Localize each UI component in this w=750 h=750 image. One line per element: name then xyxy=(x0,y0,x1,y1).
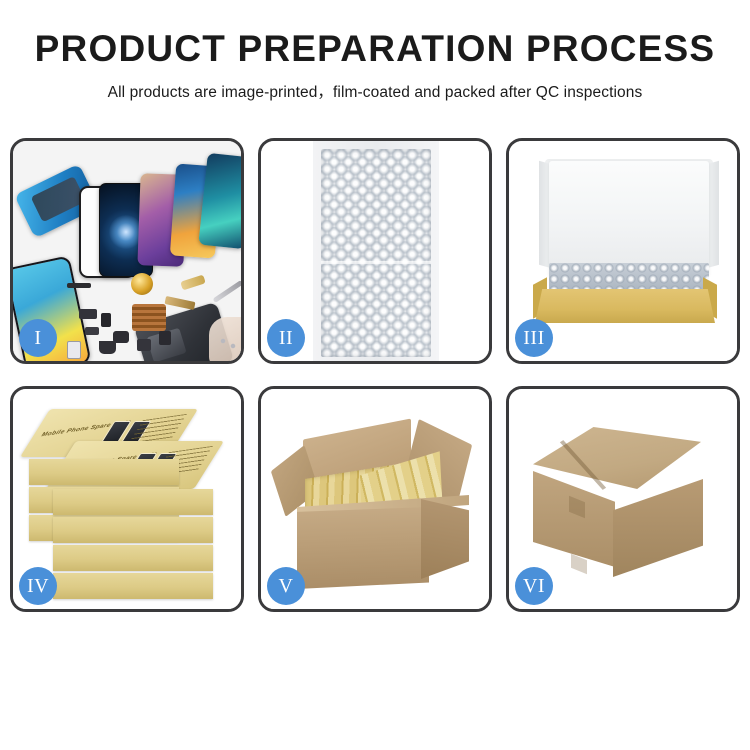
box-lid-panel xyxy=(549,161,709,276)
step-badge-1: I xyxy=(19,319,57,357)
sim-tray-part xyxy=(67,341,81,359)
step-badge-2: II xyxy=(267,319,305,357)
box-front-panel xyxy=(535,289,715,323)
carton-front-panel xyxy=(297,507,429,589)
step-panel-5: V xyxy=(258,386,492,612)
antenna-part xyxy=(159,331,171,345)
retail-box-stack-1 xyxy=(29,459,179,485)
logic-board-chip xyxy=(132,304,166,331)
step-badge-5: V xyxy=(267,567,305,605)
step-badge-3: III xyxy=(515,319,553,357)
flex-cable-2 xyxy=(180,275,206,291)
retail-box-stack-6 xyxy=(53,545,213,571)
retail-box-stack-7 xyxy=(53,573,213,599)
step-panel-6: VI xyxy=(506,386,740,612)
step-badge-4: IV xyxy=(19,567,57,605)
retail-box-stack-4 xyxy=(53,489,213,515)
flex-cable-3 xyxy=(164,296,195,310)
page-subtitle: All products are image-printed，film-coat… xyxy=(0,80,750,102)
bubble-wrapped-contents xyxy=(549,263,709,293)
speaker-module xyxy=(79,309,97,319)
step-panel-3: III xyxy=(506,138,740,364)
button-part xyxy=(137,339,151,351)
page-title: PRODUCT PREPARATION PROCESS xyxy=(0,30,750,67)
step-panel-4: Mobile Phone Spare Parts Mobile Phone Sp… xyxy=(10,386,244,612)
step-panel-1: I xyxy=(10,138,244,364)
process-steps-grid: I II III Mobile Phone Spare Parts xyxy=(10,138,740,612)
retail-box-stack-5 xyxy=(53,517,213,543)
step-panel-2: II xyxy=(258,138,492,364)
wireless-charging-coil xyxy=(131,273,153,295)
sealed-carton-right-panel xyxy=(613,479,703,577)
earpiece-part xyxy=(99,341,116,354)
camera-module xyxy=(101,313,111,327)
carton-side-panel xyxy=(421,499,469,579)
bubble-wrap-seam xyxy=(321,261,431,264)
flex-cable-1 xyxy=(67,283,91,288)
step-badge-6: VI xyxy=(515,567,553,605)
repair-tweezers xyxy=(213,280,241,303)
connector-part xyxy=(85,327,99,335)
sealed-carton-top xyxy=(533,427,701,489)
bubble-wrap-sheet xyxy=(321,149,431,357)
page-header: PRODUCT PREPARATION PROCESS All products… xyxy=(0,0,750,102)
screws xyxy=(219,337,241,351)
